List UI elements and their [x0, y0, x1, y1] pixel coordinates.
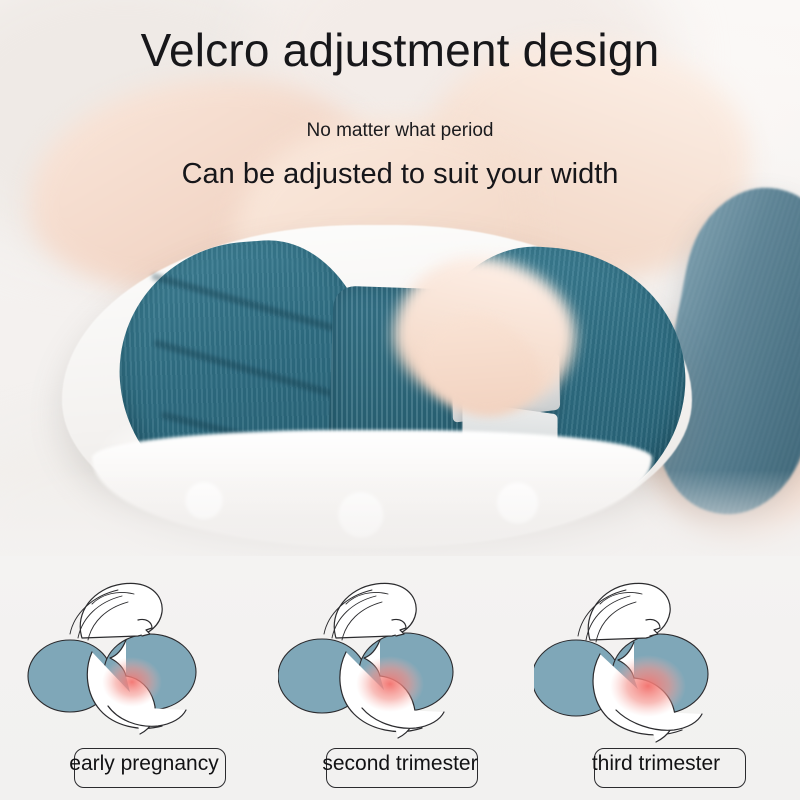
stage-illustration-early-pregnancy	[22, 560, 266, 750]
stage-label-row: second trimester	[278, 742, 522, 794]
stage-label-second-trimester: second trimester	[278, 752, 522, 776]
product-photo	[0, 0, 800, 575]
stage-illustration-third-trimester	[534, 560, 778, 750]
stage-illustration-second-trimester	[278, 560, 522, 750]
subtitle-large: Can be adjusted to suit your width	[0, 158, 800, 191]
stage-label-row: early pregnancy	[22, 742, 266, 794]
stage-label-early-pregnancy: early pregnancy	[22, 752, 266, 776]
stage-label-third-trimester: third trimester	[534, 752, 778, 776]
stages-panels: early pregnancy	[0, 560, 800, 800]
stage-panel-second-trimester: second trimester	[278, 560, 522, 800]
subtitle-small: No matter what period	[0, 120, 800, 142]
page-title: Velcro adjustment design	[0, 25, 800, 76]
stage-panel-third-trimester: third trimester	[534, 560, 778, 800]
stage-label-row: third trimester	[534, 742, 778, 794]
product-marketing-image: Velcro adjustment design No matter what …	[0, 0, 800, 800]
stage-panel-early-pregnancy: early pregnancy	[22, 560, 266, 800]
